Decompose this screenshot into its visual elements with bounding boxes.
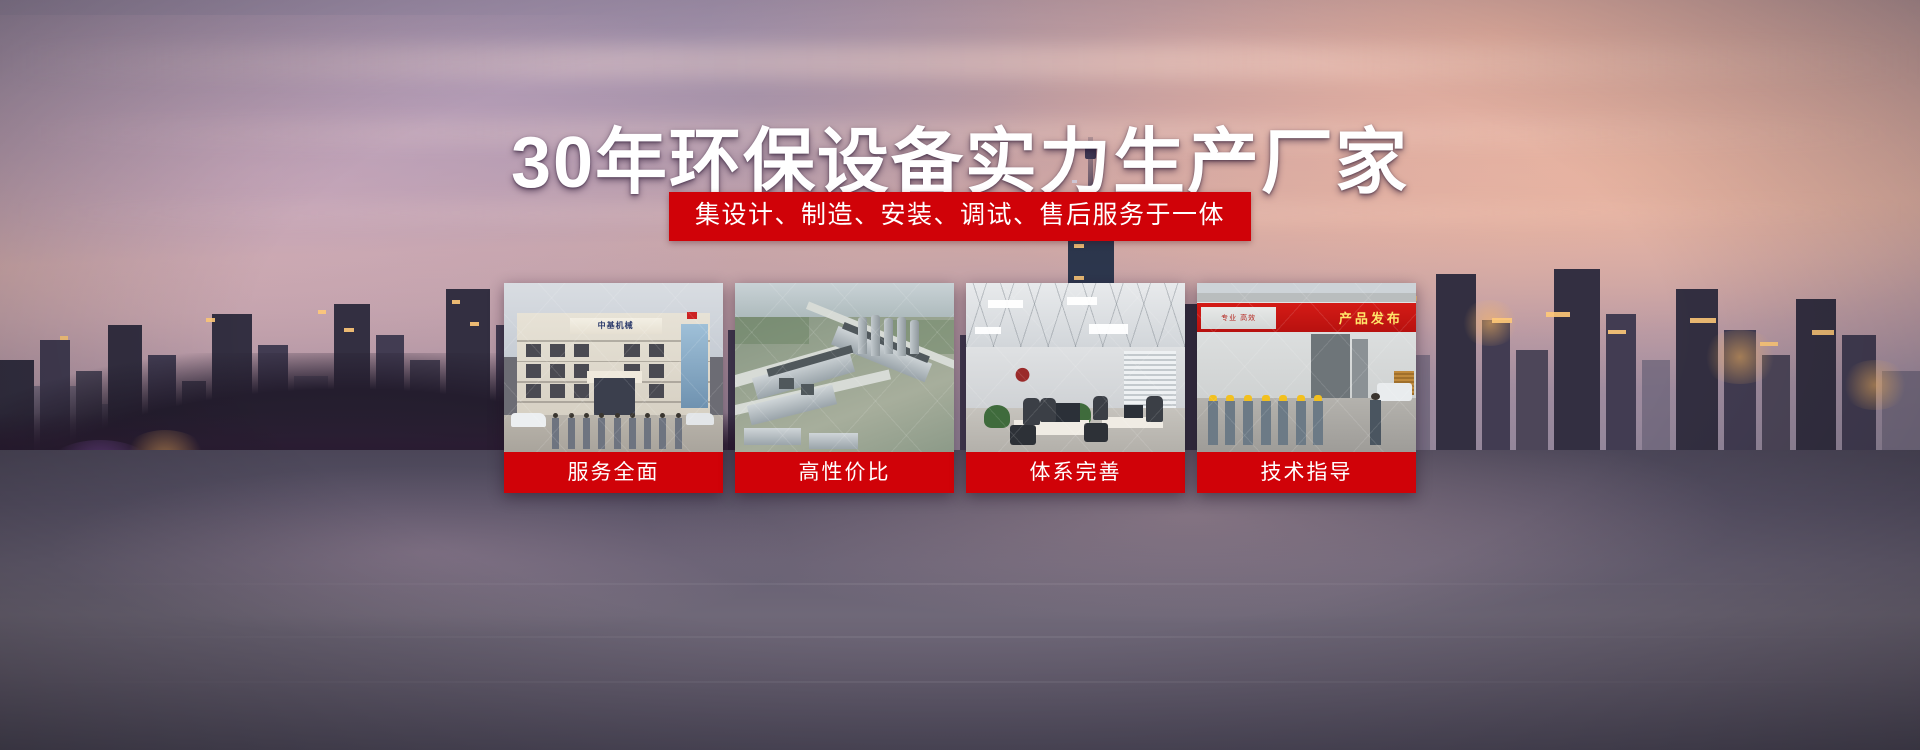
- subtitle-badge: 集设计、制造、安装、调试、售后服务于一体: [669, 192, 1251, 241]
- factory-banner-text-secondary: 专业 高效: [1201, 307, 1275, 329]
- building-sign-text: 中基机械: [570, 318, 662, 333]
- card-label: 技术指导: [1197, 452, 1416, 493]
- feature-card[interactable]: 产品发布 专业 高效: [1197, 283, 1416, 493]
- card-photo-office-interior: [966, 283, 1185, 452]
- card-label: 高性价比: [735, 452, 954, 493]
- card-photo-industrial-plant: [735, 283, 954, 452]
- card-label: 体系完善: [966, 452, 1185, 493]
- feature-card[interactable]: 体系完善: [966, 283, 1185, 493]
- feature-card[interactable]: 高性价比: [735, 283, 954, 493]
- card-label: 服务全面: [504, 452, 723, 493]
- hero-banner: 30年环保设备实力生产厂家 集设计、制造、安装、调试、售后服务于一体 中基机械: [0, 0, 1920, 750]
- card-photo-factory-workshop: 产品发布 专业 高效: [1197, 283, 1416, 452]
- feature-card[interactable]: 中基机械: [504, 283, 723, 493]
- card-photo-company-building: 中基机械: [504, 283, 723, 452]
- subtitle-text: 集设计、制造、安装、调试、售后服务于一体: [695, 201, 1225, 230]
- feature-card-list: 中基机械: [504, 283, 1416, 493]
- banner-content: 30年环保设备实力生产厂家 集设计、制造、安装、调试、售后服务于一体 中基机械: [0, 0, 1920, 750]
